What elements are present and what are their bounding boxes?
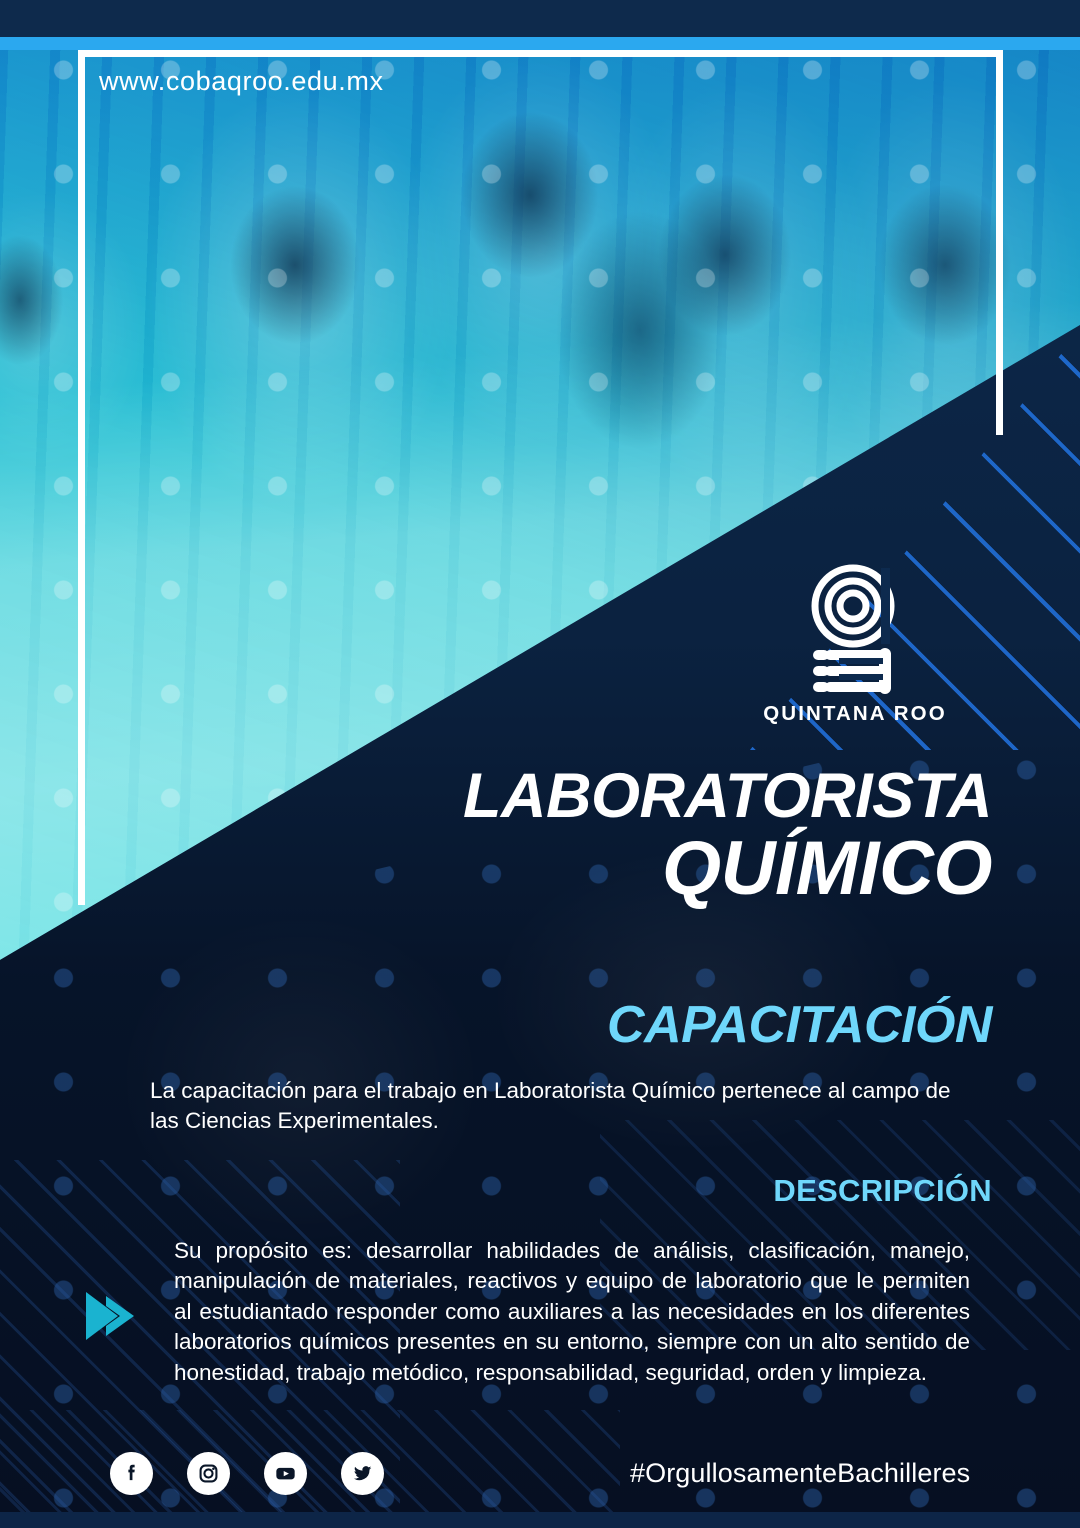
capacitacion-body: La capacitación para el trabajo en Labor… (150, 1076, 980, 1136)
frame-line-left (78, 50, 85, 905)
title-line-1: LABORATORISTA (463, 765, 992, 828)
social-links (110, 1452, 384, 1495)
frame-line-right (996, 50, 1003, 435)
cobaq-spiral-book-logo (760, 562, 950, 694)
bottom-navy-stripe (0, 1512, 1080, 1528)
hashtag-text: #OrgullosamenteBachilleres (630, 1458, 970, 1489)
instagram-icon[interactable] (187, 1452, 230, 1495)
poster-title: LABORATORISTA QUÍMICO (463, 765, 992, 908)
top-blue-stripe (0, 37, 1080, 50)
cobaq-logo: QUINTANA ROO (760, 562, 950, 726)
top-navy-band (0, 0, 1080, 37)
descripcion-heading: DESCRIPCIÓN (773, 1173, 992, 1209)
capacitacion-heading: CAPACITACIÓN (607, 995, 992, 1055)
website-url[interactable]: www.cobaqroo.edu.mx (99, 66, 384, 97)
double-chevron-right-icon (84, 1290, 140, 1347)
logo-state-name: QUINTANA ROO (760, 702, 950, 726)
poster-root: www.cobaqroo.edu.mx (0, 0, 1080, 1528)
descripcion-body: Su propósito es: desarrollar habilidades… (174, 1236, 970, 1388)
facebook-icon[interactable] (110, 1452, 153, 1495)
title-line-2: QUÍMICO (463, 830, 992, 908)
frame-line-top (78, 50, 1003, 57)
twitter-icon[interactable] (341, 1452, 384, 1495)
youtube-icon[interactable] (264, 1452, 307, 1495)
